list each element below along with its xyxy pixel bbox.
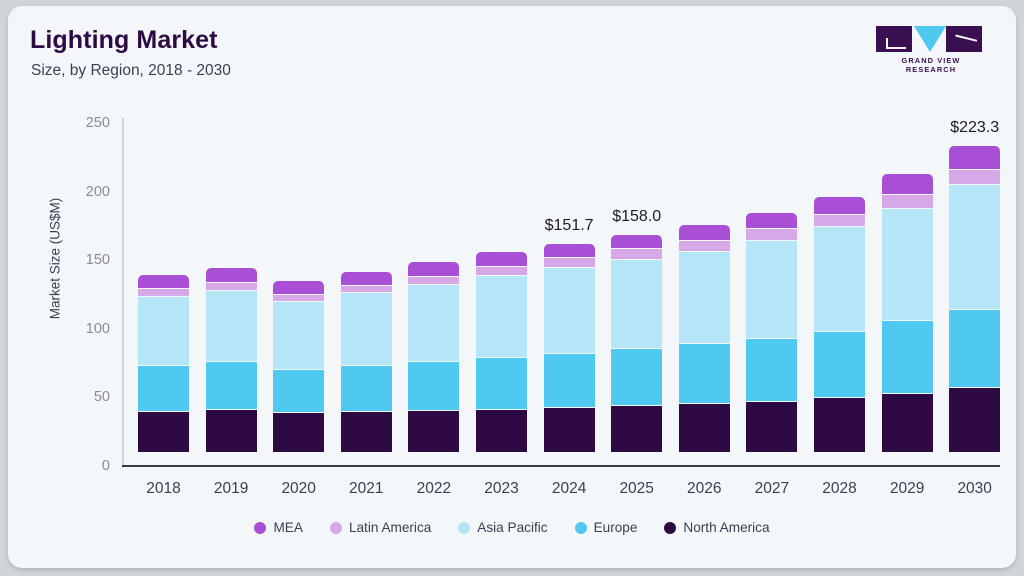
bar-segment-north-america-2024[interactable] <box>544 407 595 452</box>
bar-segment-latin-america-2030[interactable] <box>949 169 1000 184</box>
legend-item-latin-america[interactable]: Latin America <box>330 520 431 535</box>
bar-segment-north-america-2018[interactable] <box>138 411 189 452</box>
bar-segment-north-america-2021[interactable] <box>341 411 392 452</box>
legend-label: Europe <box>594 520 638 535</box>
bar-segment-europe-2027[interactable] <box>746 338 797 400</box>
bar-2027[interactable] <box>746 213 797 452</box>
bar-2029[interactable] <box>882 174 933 452</box>
legend-label: Latin America <box>349 520 431 535</box>
bar-segment-north-america-2028[interactable] <box>814 397 865 452</box>
bar-segment-north-america-2025[interactable] <box>611 405 662 452</box>
bar-segment-north-america-2027[interactable] <box>746 401 797 452</box>
bar-segment-latin-america-2023[interactable] <box>476 266 527 275</box>
bar-segment-latin-america-2021[interactable] <box>341 285 392 293</box>
bar-2019[interactable] <box>206 268 257 453</box>
bar-segment-asia-pacific-2018[interactable] <box>138 296 189 365</box>
y-axis-title: Market Size (US$M) <box>48 159 63 359</box>
legend-swatch-icon <box>458 522 470 534</box>
legend-item-north-america[interactable]: North America <box>664 520 769 535</box>
bar-segment-europe-2030[interactable] <box>949 309 1000 387</box>
bar-segment-north-america-2029[interactable] <box>882 393 933 452</box>
legend-item-europe[interactable]: Europe <box>575 520 638 535</box>
bar-segment-latin-america-2025[interactable] <box>611 248 662 258</box>
bar-segment-mea-2018[interactable] <box>138 275 189 288</box>
bar-segment-latin-america-2027[interactable] <box>746 228 797 240</box>
legend-label: North America <box>683 520 769 535</box>
bar-segment-mea-2022[interactable] <box>408 262 459 276</box>
y-axis-tick-150: 150 <box>66 252 110 268</box>
bar-segment-north-america-2023[interactable] <box>476 409 527 452</box>
bar-segment-mea-2026[interactable] <box>679 225 730 240</box>
bar-segment-asia-pacific-2019[interactable] <box>206 290 257 361</box>
bar-segment-asia-pacific-2030[interactable] <box>949 184 1000 309</box>
bar-segment-north-america-2020[interactable] <box>273 412 324 452</box>
bar-2018[interactable] <box>138 275 189 452</box>
x-axis-line <box>122 465 1000 467</box>
bar-segment-latin-america-2018[interactable] <box>138 288 189 296</box>
bar-segment-mea-2019[interactable] <box>206 268 257 282</box>
bar-segment-mea-2024[interactable] <box>544 244 595 257</box>
y-axis-tick-100: 100 <box>66 321 110 337</box>
bar-segment-latin-america-2020[interactable] <box>273 294 324 302</box>
bar-2020[interactable] <box>273 281 324 452</box>
legend-swatch-icon <box>330 522 342 534</box>
legend-item-mea[interactable]: MEA <box>254 520 302 535</box>
bar-segment-asia-pacific-2027[interactable] <box>746 240 797 338</box>
bar-value-label-2030: $223.3 <box>920 119 1016 137</box>
bar-segment-asia-pacific-2023[interactable] <box>476 275 527 357</box>
bar-segment-europe-2019[interactable] <box>206 361 257 409</box>
y-axis-tick-0: 0 <box>66 458 110 474</box>
legend-swatch-icon <box>254 522 266 534</box>
bar-value-label-2025: $158.0 <box>582 208 692 226</box>
bar-segment-latin-america-2019[interactable] <box>206 282 257 290</box>
bar-segment-europe-2025[interactable] <box>611 348 662 405</box>
chart-legend: MEALatin AmericaAsia PacificEuropeNorth … <box>8 520 1016 535</box>
bar-segment-europe-2023[interactable] <box>476 357 527 409</box>
chart-card: Lighting Market Size, by Region, 2018 - … <box>8 6 1016 568</box>
bar-segment-asia-pacific-2026[interactable] <box>679 251 730 343</box>
bar-segment-europe-2020[interactable] <box>273 369 324 412</box>
bar-segment-asia-pacific-2028[interactable] <box>814 226 865 331</box>
bar-segment-asia-pacific-2025[interactable] <box>611 259 662 349</box>
bar-2028[interactable] <box>814 197 865 452</box>
stacked-bar-chart: Market Size (US$M) 050100150200250 $151.… <box>8 6 1016 568</box>
bar-segment-mea-2028[interactable] <box>814 197 865 214</box>
bar-segment-mea-2030[interactable] <box>949 146 1000 169</box>
x-axis-tick-2030: 2030 <box>935 480 1015 498</box>
bar-segment-europe-2021[interactable] <box>341 365 392 411</box>
bar-2023[interactable] <box>476 252 527 452</box>
bar-segment-mea-2020[interactable] <box>273 281 324 293</box>
bar-segment-mea-2027[interactable] <box>746 213 797 229</box>
bar-segment-europe-2026[interactable] <box>679 343 730 403</box>
bar-segment-europe-2029[interactable] <box>882 320 933 393</box>
bar-segment-mea-2023[interactable] <box>476 252 527 266</box>
legend-item-asia-pacific[interactable]: Asia Pacific <box>458 520 547 535</box>
y-axis-line <box>122 118 124 466</box>
bar-segment-latin-america-2026[interactable] <box>679 240 730 251</box>
bar-segment-north-america-2022[interactable] <box>408 410 459 452</box>
legend-label: MEA <box>273 520 302 535</box>
bar-2030[interactable]: $223.3 <box>949 146 1000 452</box>
bar-segment-asia-pacific-2022[interactable] <box>408 284 459 362</box>
bar-segment-asia-pacific-2029[interactable] <box>882 208 933 321</box>
bar-2026[interactable] <box>679 225 730 452</box>
y-axis-tick-250: 250 <box>66 115 110 131</box>
bar-2025[interactable]: $158.0 <box>611 235 662 452</box>
bar-segment-latin-america-2022[interactable] <box>408 276 459 284</box>
bar-segment-north-america-2030[interactable] <box>949 387 1000 452</box>
bar-segment-asia-pacific-2020[interactable] <box>273 301 324 369</box>
bar-segment-mea-2021[interactable] <box>341 272 392 285</box>
legend-swatch-icon <box>575 522 587 534</box>
bar-segment-europe-2022[interactable] <box>408 361 459 410</box>
bar-segment-north-america-2019[interactable] <box>206 409 257 452</box>
y-axis-tick-50: 50 <box>66 389 110 405</box>
legend-label: Asia Pacific <box>477 520 547 535</box>
bar-segment-mea-2029[interactable] <box>882 174 933 194</box>
bar-segment-latin-america-2028[interactable] <box>814 214 865 226</box>
bar-segment-asia-pacific-2021[interactable] <box>341 292 392 365</box>
y-axis-tick-200: 200 <box>66 184 110 200</box>
bar-segment-europe-2018[interactable] <box>138 365 189 411</box>
bar-segment-asia-pacific-2024[interactable] <box>544 267 595 353</box>
legend-swatch-icon <box>664 522 676 534</box>
bar-segment-latin-america-2029[interactable] <box>882 194 933 208</box>
bar-2024[interactable]: $151.7 <box>544 244 595 452</box>
bar-segment-mea-2025[interactable] <box>611 235 662 248</box>
bar-segment-europe-2024[interactable] <box>544 353 595 407</box>
bar-2021[interactable] <box>341 272 392 452</box>
bar-2022[interactable] <box>408 262 459 452</box>
bar-segment-latin-america-2024[interactable] <box>544 257 595 267</box>
bar-segment-north-america-2026[interactable] <box>679 403 730 452</box>
bar-segment-europe-2028[interactable] <box>814 331 865 397</box>
